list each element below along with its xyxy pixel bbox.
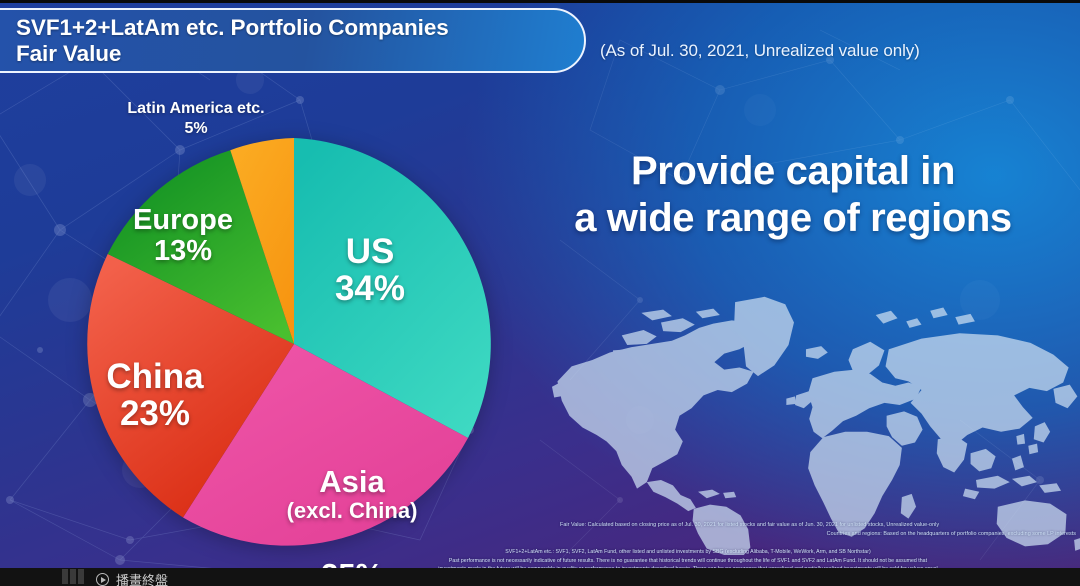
presentation-slide: SVF1+2+LatAm etc. Portfolio Companies Fa… — [0, 0, 1080, 586]
top-letterbox-strip — [0, 0, 1080, 3]
disclaimer-line-1: SVF1+2+LatAm etc.: SVF1, SVF2, LatAm Fun… — [300, 548, 1076, 557]
pie-chart — [78, 128, 510, 560]
footnote-line-2: Countries and regions: Based on the head… — [560, 530, 1076, 539]
pie-chart-svg — [78, 128, 510, 560]
player-thumbnail-strip — [62, 569, 84, 584]
slide-title-pill: SVF1+2+LatAm etc. Portfolio Companies Fa… — [0, 8, 586, 73]
footnote-block: Fair Value: Calculated based on closing … — [560, 521, 1076, 539]
player-caption-group[interactable]: 播畫終盤 — [96, 570, 168, 586]
video-player-bar[interactable]: 播畫終盤 — [0, 568, 1080, 586]
as-of-note: (As of Jul. 30, 2021, Unrealized value o… — [600, 41, 920, 61]
disclaimer-line-2: Past performance is not necessarily indi… — [300, 557, 1076, 566]
player-caption-text: 播畫終盤 — [116, 570, 168, 586]
footnote-line-1: Fair Value: Calculated based on closing … — [560, 521, 1076, 530]
pie-label-latin-america: Latin America etc. 5% — [86, 99, 306, 138]
play-circle-icon[interactable] — [96, 573, 109, 586]
page-title: SVF1+2+LatAm etc. Portfolio Companies Fa… — [16, 15, 449, 66]
headline-text: Provide capital in a wide range of regio… — [498, 148, 1080, 242]
